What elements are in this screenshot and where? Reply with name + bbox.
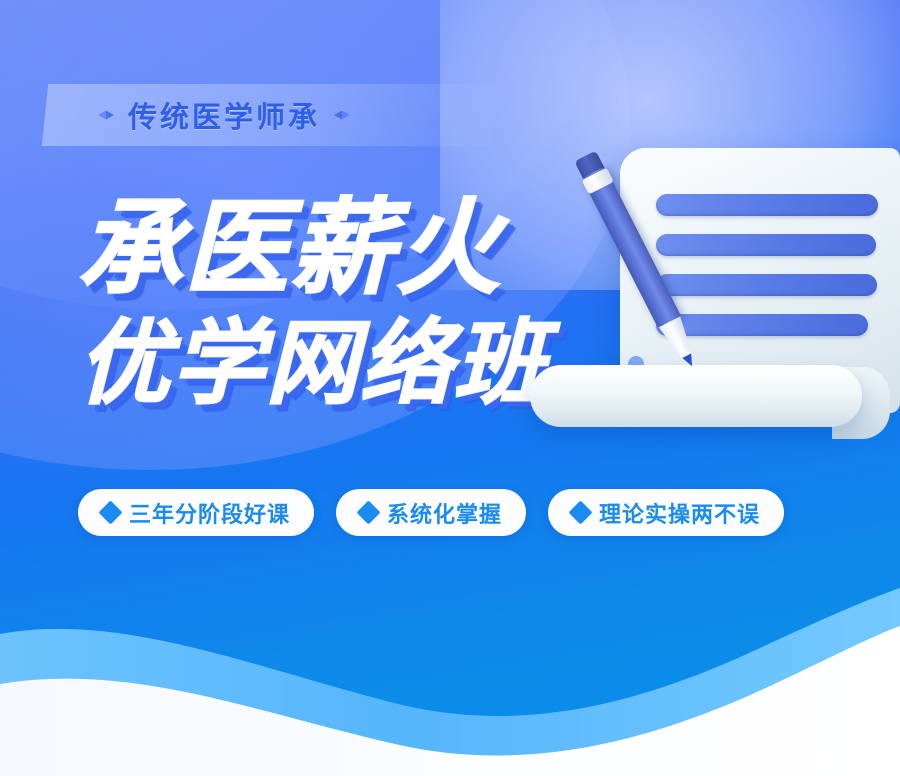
headline-line-1: 承医薪火: [78, 196, 548, 300]
document-text-bar: [656, 274, 877, 296]
document-text-bar: [656, 194, 878, 216]
page-title: 承医薪火 优学网络班: [78, 196, 548, 410]
scroll-curl: [530, 365, 862, 427]
ribbon: 传统医学师承: [60, 84, 480, 146]
document-text-bar: [656, 234, 876, 256]
promo-poster: 传统医学师承 承医薪火 优学网络班 三年分阶段好课 系统化掌握 理论实操两不误: [0, 0, 900, 776]
headline-line-2: 优学网络班: [78, 318, 548, 410]
wave-decoration: [0, 516, 900, 776]
illustration: [540, 130, 900, 490]
diamond-ornament-right-icon: [334, 111, 350, 120]
ribbon-label: 传统医学师承: [128, 94, 320, 136]
diamond-ornament-left-icon: [98, 111, 114, 120]
